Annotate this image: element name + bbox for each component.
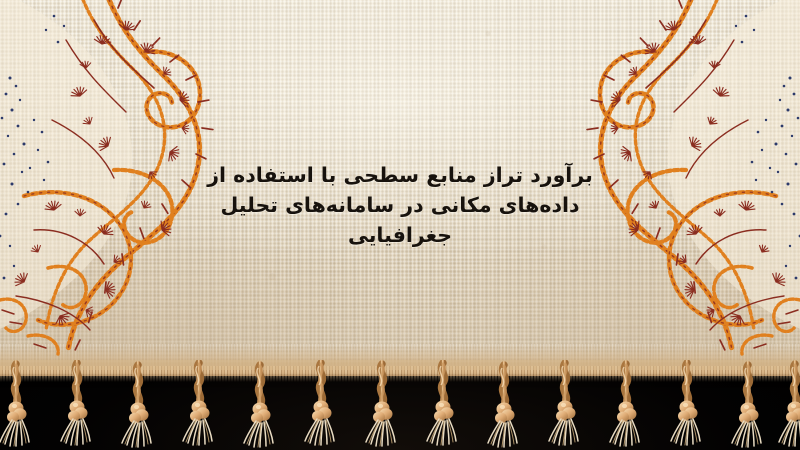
slide-title: برآورد تراز منابع سطحی با استفاده از داد…: [150, 160, 650, 250]
tassel-fringe: [0, 360, 800, 450]
title-slide: برآورد تراز منابع سطحی با استفاده از داد…: [0, 0, 800, 450]
title-line-1: برآورد تراز منابع سطحی با استفاده از: [150, 160, 650, 190]
title-line-2: داده‌های مکانی در سامانه‌های تحلیل: [150, 190, 650, 220]
title-line-3: جغرافیایی: [150, 220, 650, 250]
